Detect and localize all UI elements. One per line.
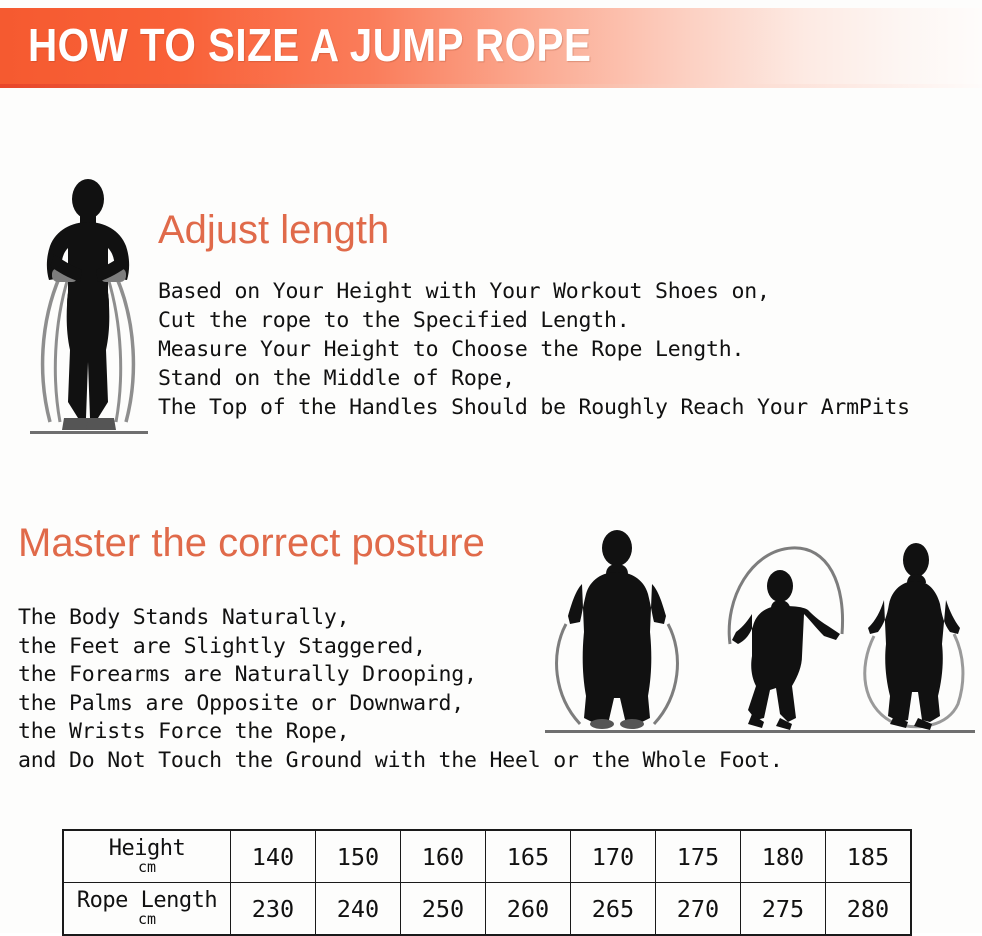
section-body-adjust-length: Based on Your Height with Your Workout S…: [158, 277, 910, 422]
rope-cell-2: 240: [316, 883, 401, 936]
height-cell-5: 170: [571, 830, 656, 883]
section-heading-adjust-length: Adjust length: [158, 206, 389, 254]
table-row-height: Height cm 140 150 160 165 170 175 180 18…: [63, 830, 911, 883]
size-chart-table: Height cm 140 150 160 165 170 175 180 18…: [62, 829, 912, 936]
height-cell-3: 160: [401, 830, 486, 883]
row-label-rope-length-unit: cm: [68, 912, 226, 926]
adjust-line-4: Stand on the Middle of Rope,: [158, 364, 910, 393]
row-label-height-unit: cm: [68, 860, 226, 874]
rope-cell-1: 230: [231, 883, 316, 936]
adjust-line-1: Based on Your Height with Your Workout S…: [158, 277, 910, 306]
adjust-line-2: Cut the rope to the Specified Length.: [158, 306, 910, 335]
row-label-rope-length: Rope Length cm: [63, 883, 231, 936]
figure-jumping-rope-overhead: [729, 548, 842, 730]
standing-person-holding-rope-illustration: [16, 172, 162, 442]
rope-cell-5: 265: [571, 883, 656, 936]
height-cell-8: 185: [826, 830, 912, 883]
adjust-line-5: The Top of the Handles Should be Roughly…: [158, 393, 910, 422]
height-cell-1: 140: [231, 830, 316, 883]
height-cell-7: 180: [741, 830, 826, 883]
height-cell-6: 175: [656, 830, 741, 883]
figure-standing-rope-behind: [557, 530, 678, 729]
rope-cell-8: 280: [826, 883, 912, 936]
height-cell-2: 150: [316, 830, 401, 883]
row-label-height: Height cm: [63, 830, 231, 883]
ground-line: [545, 730, 975, 733]
section-heading-master-posture: Master the correct posture: [18, 518, 485, 568]
header-underline: [0, 84, 982, 88]
rope-cell-3: 250: [401, 883, 486, 936]
rope-cell-6: 270: [656, 883, 741, 936]
page-title: HOW TO SIZE A JUMP ROPE: [28, 16, 591, 74]
row-label-rope-length-text: Rope Length: [68, 890, 226, 911]
row-label-height-text: Height: [68, 838, 226, 859]
figure-jumping-rope-under-feet: [865, 543, 963, 730]
rope-cell-4: 260: [486, 883, 571, 936]
adjust-line-3: Measure Your Height to Choose the Rope L…: [158, 335, 910, 364]
posture-illustrations: [520, 528, 982, 733]
table-row-rope-length: Rope Length cm 230 240 250 260 265 270 2…: [63, 883, 911, 936]
rope-cell-7: 275: [741, 883, 826, 936]
posture-line-6: and Do Not Touch the Ground with the Hee…: [18, 747, 783, 776]
height-cell-4: 165: [486, 830, 571, 883]
